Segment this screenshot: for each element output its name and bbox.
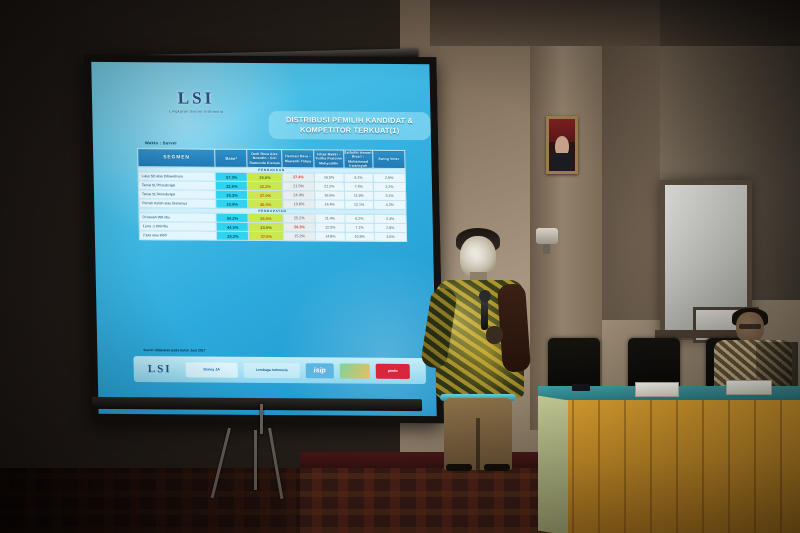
cell-swing: 3.6% bbox=[374, 232, 406, 241]
cell-candidate-2: 21.5% bbox=[282, 182, 314, 191]
cell-base: 22.6% bbox=[216, 181, 248, 190]
table-row: 2 juta atau lebih 25.3% 37.5% 15.2% 14.8… bbox=[139, 231, 406, 242]
col-header-candidate-3: Ishak Mekki - Yudha Pratomo Mahyuddin bbox=[314, 150, 344, 168]
cell-base: 57.3% bbox=[216, 172, 248, 181]
cell-candidate-2: 26.3% bbox=[283, 223, 315, 232]
tripod-leg-right bbox=[268, 428, 283, 499]
cell-candidate-3: 14.4% bbox=[315, 200, 345, 209]
tripod-leg-left bbox=[211, 428, 231, 498]
cell-base: 50.2% bbox=[216, 213, 248, 222]
cell-candidate-2: 15.2% bbox=[284, 232, 316, 241]
cell-swing: 2.8% bbox=[374, 223, 406, 232]
panel-table bbox=[538, 386, 800, 533]
lsi-logo: LSI Lingkaran Survei Indonesia bbox=[150, 88, 243, 114]
cell-swing: 2.4% bbox=[374, 214, 406, 223]
footer-media-logo bbox=[340, 363, 370, 378]
col-header-candidate-1: Dodi Reza Alex Noerdin - Giri Ramunda Ki… bbox=[247, 149, 282, 167]
cell-candidate-3: 14.8% bbox=[316, 232, 346, 241]
slide-footer-logo-bar: LSI Denny JA Lembaga Indonesia isip pind… bbox=[133, 356, 426, 384]
presenter-face-glare bbox=[458, 240, 498, 274]
cell-candidate-2: 10.8% bbox=[283, 200, 315, 209]
panel-table-skirt bbox=[558, 400, 800, 533]
slide-title: DISTRIBUSI PEMILIH KANDIDAT & KOMPETITOR… bbox=[268, 111, 431, 140]
cell-base: 10.9% bbox=[216, 199, 248, 208]
cell-candidate-2: 25.2% bbox=[283, 214, 315, 223]
cell-candidate-3: 12.0% bbox=[315, 223, 345, 232]
cell-candidate-3: 16.6% bbox=[315, 191, 345, 200]
tripod-leg-center bbox=[254, 430, 257, 490]
slide-waktu-label: Waktu : Survei bbox=[145, 140, 177, 145]
cell-candidate-4: 7.1% bbox=[345, 223, 375, 232]
phone-on-table[interactable] bbox=[572, 384, 590, 391]
cell-base: 29.3% bbox=[216, 190, 248, 199]
cell-candidate-3: 21.2% bbox=[315, 182, 345, 191]
cell-candidate-4: 12.1% bbox=[344, 200, 374, 209]
cell-candidate-1: 25.6% bbox=[248, 172, 283, 181]
slide-footnote: Survei dilakukan pada bulan Juni 2017 bbox=[143, 348, 205, 352]
cell-swing: 4.2% bbox=[374, 200, 406, 209]
lsi-logo-main: LSI bbox=[150, 88, 242, 109]
microphone-icon bbox=[481, 296, 488, 330]
col-header-swing-voter: Swing Voter bbox=[373, 150, 405, 168]
cell-candidate-4: 11.6% bbox=[344, 191, 374, 200]
cell-candidate-4: 7.4% bbox=[344, 182, 374, 191]
footer-lsi-logo: LSI bbox=[140, 362, 180, 377]
cell-swing: 2.2% bbox=[373, 182, 405, 191]
cell-candidate-1: 23.0% bbox=[249, 222, 284, 231]
presenter-hand bbox=[486, 326, 503, 344]
cell-candidate-1: 37.5% bbox=[249, 231, 284, 240]
presenter bbox=[424, 222, 544, 470]
cell-candidate-1: 45.0% bbox=[248, 199, 283, 208]
col-header-base: Base* bbox=[215, 149, 247, 167]
cell-swing: 2.5% bbox=[373, 173, 405, 182]
row-label: 2 juta atau lebih bbox=[139, 231, 217, 241]
projection-screen[interactable]: LSI Lingkaran Survei Indonesia DISTRIBUS… bbox=[84, 55, 444, 423]
cell-candidate-4: 6.1% bbox=[344, 173, 374, 182]
camera-tripod bbox=[206, 404, 326, 500]
presenter-leg-split bbox=[476, 418, 480, 470]
cell-candidate-3: 11.4% bbox=[315, 214, 345, 223]
cell-candidate-3: 16.5% bbox=[314, 173, 344, 182]
cell-candidate-4: 10.5% bbox=[345, 232, 375, 241]
col-header-candidate-2: Herman Deru - Mawardi Yahya bbox=[282, 150, 314, 168]
cell-candidate-1: 26.5% bbox=[248, 213, 283, 222]
footer-isip-logo: isip bbox=[306, 363, 334, 378]
tripod-post bbox=[260, 404, 263, 434]
cell-swing: 3.1% bbox=[373, 191, 405, 200]
name-card bbox=[726, 380, 772, 395]
footer-partner-logo: pindo bbox=[376, 363, 410, 378]
col-header-candidate-4: Saifudin Aswari Riva'i - Muhammad Irwans… bbox=[343, 150, 373, 168]
wall-column-back bbox=[600, 0, 660, 320]
lsi-logo-sub: Lingkaran Survei Indonesia bbox=[150, 109, 242, 114]
cell-candidate-1: 37.0% bbox=[248, 190, 283, 199]
footer-lembaga-logo: Lembaga Indonesia bbox=[244, 362, 300, 377]
presenter-shoe-right bbox=[484, 464, 510, 471]
cell-base: 44.5% bbox=[217, 222, 249, 231]
cell-candidate-2: 24.0% bbox=[283, 191, 315, 200]
footer-denny-ja-logo: Denny JA bbox=[186, 362, 238, 377]
conference-room-scene: LSI Lingkaran Survei Indonesia DISTRIBUS… bbox=[0, 0, 800, 533]
col-header-segmen: SEGMEN bbox=[138, 149, 216, 168]
table-header-row: SEGMEN Base* Dodi Reza Alex Noerdin - Gi… bbox=[138, 149, 405, 169]
panel-table-side-cloth bbox=[538, 396, 568, 533]
cell-base: 25.3% bbox=[217, 231, 249, 240]
table-body: SEGMEN Base* Dodi Reza Alex Noerdin - Gi… bbox=[138, 149, 407, 242]
presenter-right-arm bbox=[497, 283, 531, 373]
name-card bbox=[635, 382, 679, 397]
cell-candidate-4: 6.2% bbox=[345, 214, 375, 223]
presenter-shoe-left bbox=[446, 464, 472, 471]
projector-glare-secondary bbox=[273, 255, 436, 416]
portrait-clothing bbox=[552, 153, 572, 171]
slide-table-wrapper: SEGMEN Base* Dodi Reza Alex Noerdin - Gi… bbox=[137, 148, 407, 242]
cell-candidate-2: 27.4% bbox=[282, 173, 314, 182]
presentation-slide: LSI Lingkaran Survei Indonesia DISTRIBUS… bbox=[91, 62, 436, 416]
cell-candidate-1: 22.2% bbox=[248, 181, 283, 190]
glasses-icon bbox=[739, 324, 761, 329]
distribution-table: SEGMEN Base* Dodi Reza Alex Noerdin - Gi… bbox=[137, 148, 407, 242]
framed-portrait bbox=[546, 116, 578, 174]
